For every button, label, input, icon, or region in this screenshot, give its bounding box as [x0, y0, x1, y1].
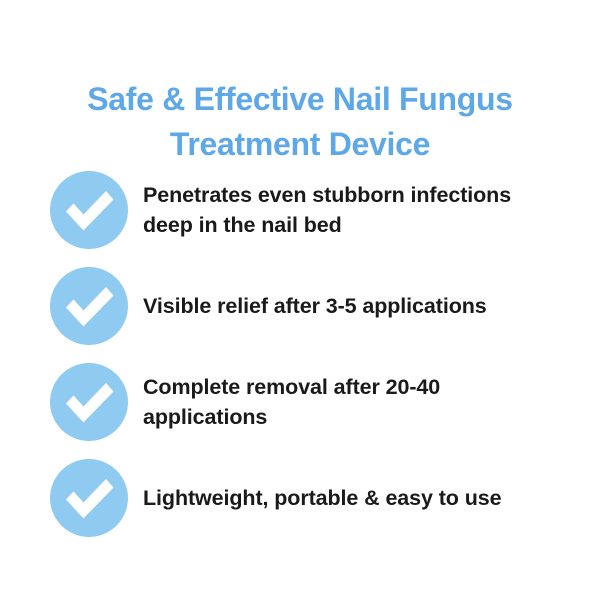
benefit-text: Penetrates even stubborn infections deep…: [143, 171, 555, 249]
page-title-line-1: Safe & Effective Nail Fungus: [50, 77, 550, 122]
benefit-item: Penetrates even stubborn infections deep…: [0, 171, 600, 249]
page-title-line-2: Treatment Device: [50, 122, 550, 167]
check-circle-icon: [50, 267, 128, 345]
check-circle-icon: [50, 363, 128, 441]
benefit-label: Visible relief after 3-5 applications: [143, 291, 487, 321]
benefit-text: Lightweight, portable & easy to use: [143, 459, 555, 537]
benefit-label: Penetrates even stubborn infections deep…: [143, 180, 555, 240]
benefit-label: Lightweight, portable & easy to use: [143, 483, 501, 513]
benefit-text: Complete removal after 20-40 application…: [143, 363, 555, 441]
check-circle-icon: [50, 171, 128, 249]
check-circle-icon: [50, 459, 128, 537]
benefit-text: Visible relief after 3-5 applications: [143, 267, 555, 345]
benefits-list: Penetrates even stubborn infections deep…: [0, 171, 600, 537]
benefit-item: Visible relief after 3-5 applications: [0, 267, 600, 345]
product-benefits-poster: Safe & Effective Nail Fungus Treatment D…: [0, 0, 600, 600]
benefit-item: Complete removal after 20-40 application…: [0, 363, 600, 441]
page-title: Safe & Effective Nail Fungus Treatment D…: [50, 77, 550, 167]
benefit-item: Lightweight, portable & easy to use: [0, 459, 600, 537]
benefit-label: Complete removal after 20-40 application…: [143, 372, 555, 432]
